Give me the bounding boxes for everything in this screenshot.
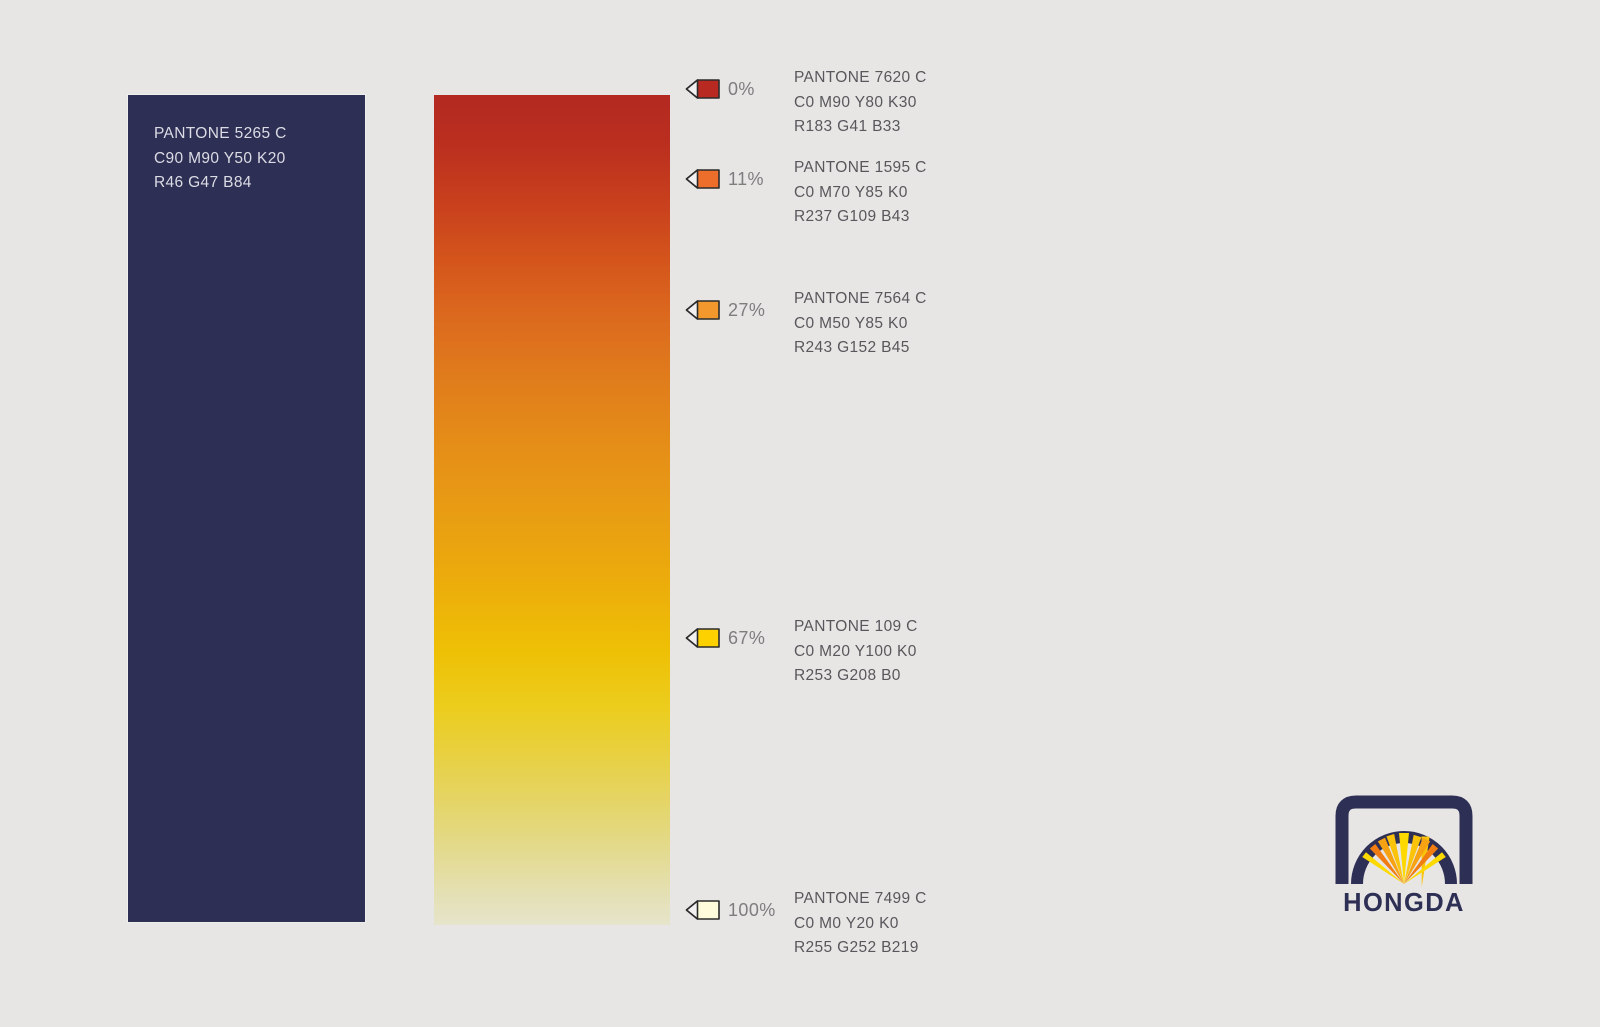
hongda-mark-icon bbox=[1334, 792, 1474, 892]
legend-detail-2: PANTONE 7564 C C0 M50 Y85 K0 R243 G152 B… bbox=[794, 287, 927, 361]
gradient-ramp[interactable] bbox=[434, 95, 670, 925]
legend-row-4[interactable]: 100% PANTONE 7499 C C0 M0 Y20 K0 R255 G2… bbox=[684, 899, 794, 921]
legend-cmyk-4: C0 M0 Y20 K0 bbox=[794, 912, 927, 937]
legend-rgb-4: R255 G252 B219 bbox=[794, 936, 927, 961]
legend-cmyk-3: C0 M20 Y100 K0 bbox=[794, 640, 918, 665]
legend-row-1[interactable]: 11% PANTONE 1595 C C0 M70 Y85 K0 R237 G1… bbox=[684, 168, 794, 190]
legend-percent-2: 27% bbox=[728, 300, 765, 321]
legend-detail-0: PANTONE 7620 C C0 M90 Y80 K30 R183 G41 B… bbox=[794, 66, 927, 140]
legend-rgb-0: R183 G41 B33 bbox=[794, 115, 927, 140]
legend-marker-group-3[interactable]: 67% bbox=[684, 627, 794, 649]
legend-marker-group-4[interactable]: 100% bbox=[684, 899, 794, 921]
legend-percent-3: 67% bbox=[728, 628, 765, 649]
color-stop-marker-icon[interactable] bbox=[684, 899, 720, 921]
legend-percent-0: 0% bbox=[728, 79, 755, 100]
legend-row-3[interactable]: 67% PANTONE 109 C C0 M20 Y100 K0 R253 G2… bbox=[684, 627, 794, 649]
legend-cmyk-2: C0 M50 Y85 K0 bbox=[794, 312, 927, 337]
legend-pantone-0: PANTONE 7620 C bbox=[794, 66, 927, 91]
legend-marker-group-0[interactable]: 0% bbox=[684, 78, 794, 100]
legend-row-0[interactable]: 0% PANTONE 7620 C C0 M90 Y80 K30 R183 G4… bbox=[684, 78, 794, 100]
legend-detail-3: PANTONE 109 C C0 M20 Y100 K0 R253 G208 B… bbox=[794, 615, 918, 689]
legend-pantone-1: PANTONE 1595 C bbox=[794, 156, 927, 181]
legend-rgb-2: R243 G152 B45 bbox=[794, 336, 927, 361]
legend-marker-group-1[interactable]: 11% bbox=[684, 168, 794, 190]
solid-swatch-labels: PANTONE 5265 C C90 M90 Y50 K20 R46 G47 B… bbox=[154, 122, 287, 196]
legend-detail-1: PANTONE 1595 C C0 M70 Y85 K0 R237 G109 B… bbox=[794, 156, 927, 230]
solid-swatch-cmyk: C90 M90 Y50 K20 bbox=[154, 147, 287, 172]
color-spec-canvas: PANTONE 5265 C C90 M90 Y50 K20 R46 G47 B… bbox=[0, 0, 1600, 1027]
solid-color-swatch[interactable]: PANTONE 5265 C C90 M90 Y50 K20 R46 G47 B… bbox=[128, 95, 365, 922]
legend-percent-1: 11% bbox=[728, 169, 764, 190]
color-stop-marker-icon[interactable] bbox=[684, 627, 720, 649]
legend-rgb-3: R253 G208 B0 bbox=[794, 664, 918, 689]
legend-percent-4: 100% bbox=[728, 900, 776, 921]
color-stop-marker-icon[interactable] bbox=[684, 299, 720, 321]
gradient-ramp-fill bbox=[434, 95, 670, 925]
solid-swatch-rgb: R46 G47 B84 bbox=[154, 171, 287, 196]
legend-pantone-2: PANTONE 7564 C bbox=[794, 287, 927, 312]
color-stop-marker-icon[interactable] bbox=[684, 78, 720, 100]
legend-row-2[interactable]: 27% PANTONE 7564 C C0 M50 Y85 K0 R243 G1… bbox=[684, 299, 794, 321]
color-stop-marker-icon[interactable] bbox=[684, 168, 720, 190]
logo-wordmark: HONGDA bbox=[1334, 889, 1474, 918]
legend-marker-group-2[interactable]: 27% bbox=[684, 299, 794, 321]
legend-rgb-1: R237 G109 B43 bbox=[794, 205, 927, 230]
brand-logo[interactable]: HONGDA bbox=[1334, 792, 1474, 934]
legend-cmyk-1: C0 M70 Y85 K0 bbox=[794, 181, 927, 206]
legend-cmyk-0: C0 M90 Y80 K30 bbox=[794, 91, 927, 116]
solid-swatch-pantone: PANTONE 5265 C bbox=[154, 122, 287, 147]
legend-pantone-3: PANTONE 109 C bbox=[794, 615, 918, 640]
legend-detail-4: PANTONE 7499 C C0 M0 Y20 K0 R255 G252 B2… bbox=[794, 887, 927, 961]
legend-pantone-4: PANTONE 7499 C bbox=[794, 887, 927, 912]
